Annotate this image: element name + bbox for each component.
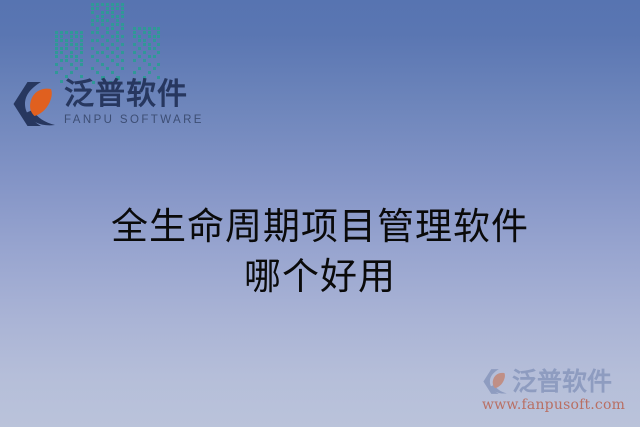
watermark-logo-row: 泛普软件 <box>482 368 634 395</box>
fanpu-watermark-logo-mark-icon <box>482 368 509 395</box>
page-title: 全生命周期项目管理软件 哪个好用 <box>0 202 640 302</box>
page-title-line-2: 哪个好用 <box>0 252 640 302</box>
brand-name-en: FANPU SOFTWARE <box>64 113 204 127</box>
watermark-url: www.fanpusoft.com <box>482 397 634 414</box>
brand-logo: 泛普软件 FANPU SOFTWARE <box>11 78 193 140</box>
slide-canvas: 泛普软件 FANPU SOFTWARE 全生命周期项目管理软件 哪个好用 泛普软… <box>0 0 640 427</box>
watermark: 泛普软件 www.fanpusoft.com <box>482 368 634 418</box>
brand-name-cn: 泛普软件 <box>64 78 188 112</box>
page-title-line-1: 全生命周期项目管理软件 <box>0 202 640 252</box>
watermark-brand-name: 泛普软件 <box>512 368 612 395</box>
brand-wordmark: 泛普软件 FANPU SOFTWARE <box>64 78 204 127</box>
pixel-buildings-graphic <box>54 0 162 86</box>
fanpu-logo-mark-icon <box>11 80 59 128</box>
